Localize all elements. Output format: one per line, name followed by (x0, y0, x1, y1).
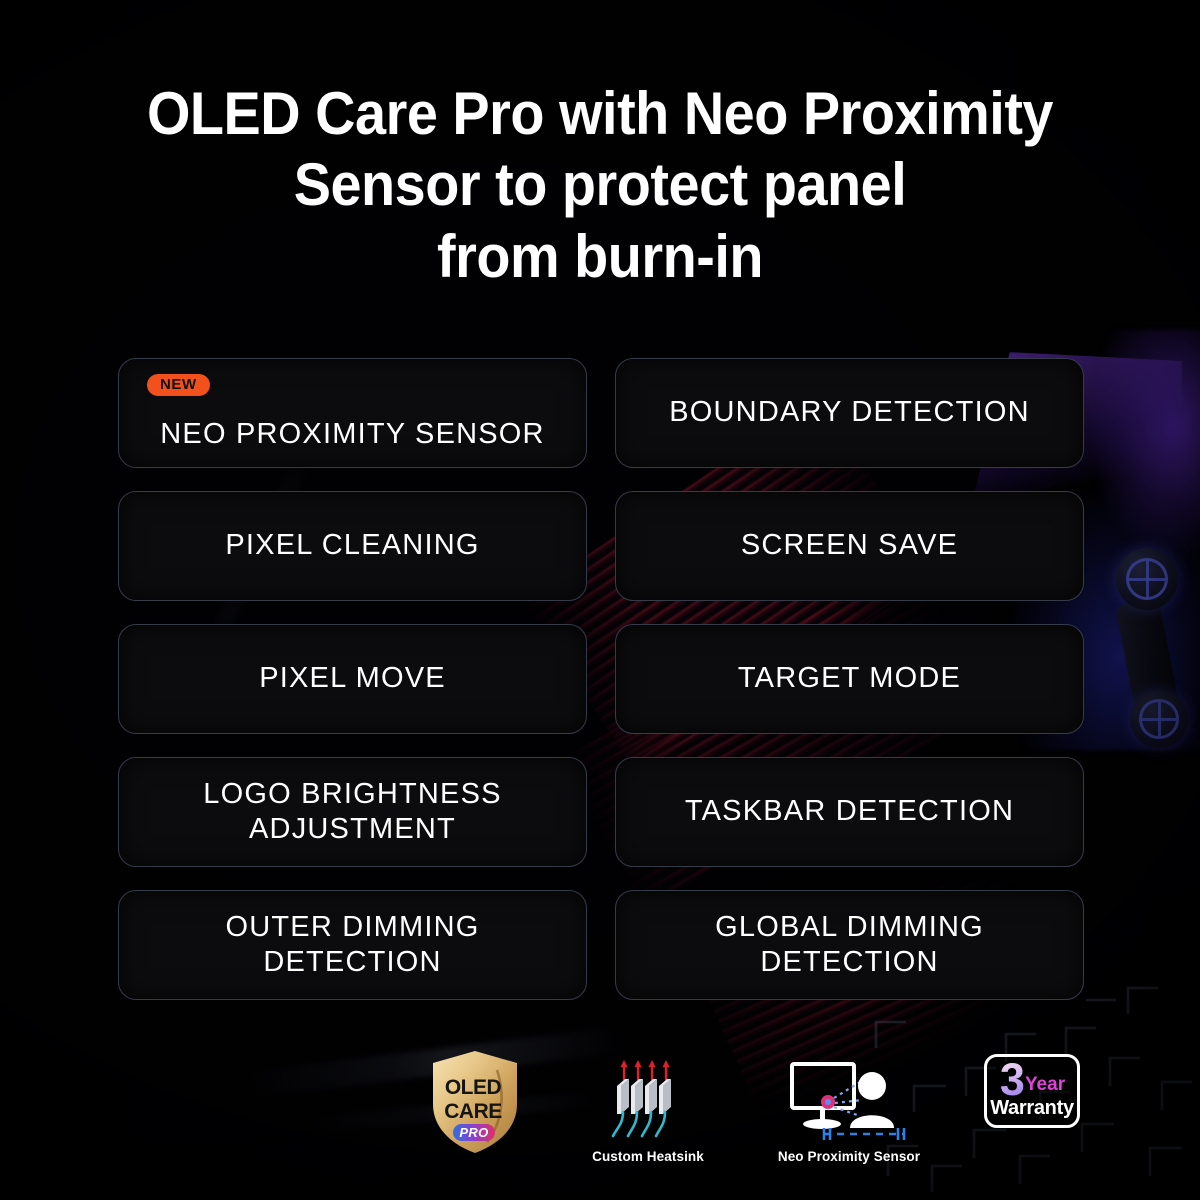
feature-card[interactable]: OUTER DIMMING DETECTION (118, 890, 587, 1000)
feature-card[interactable]: LOGO BRIGHTNESS ADJUSTMENT (118, 757, 587, 867)
heatsink-label: Custom Heatsink (583, 1149, 713, 1164)
feature-card-label: PIXEL CLEANING (213, 528, 491, 563)
feature-card-label: TASKBAR DETECTION (673, 794, 1026, 829)
feature-card[interactable]: TASKBAR DETECTION (615, 757, 1084, 867)
page-title: OLED Care Pro with Neo Proximity Sensor … (42, 78, 1158, 292)
svg-text:CARE: CARE (444, 1100, 502, 1123)
feature-card[interactable]: NEWNEO PROXIMITY SENSOR (118, 358, 587, 468)
feature-card[interactable]: GLOBAL DIMMING DETECTION (615, 890, 1084, 1000)
feature-card-label: SCREEN SAVE (729, 528, 970, 563)
feature-card-label: LOGO BRIGHTNESS ADJUSTMENT (191, 777, 513, 848)
oled-care-pro-badge: OLED CARE PRO (421, 1050, 529, 1154)
feature-card-label: OUTER DIMMING DETECTION (213, 910, 491, 981)
warranty-badge-icon: 3 Year Warranty (984, 1054, 1080, 1128)
promo-graphic: OLED Care Pro with Neo Proximity Sensor … (0, 0, 1200, 1200)
feature-card[interactable]: TARGET MODE (615, 624, 1084, 734)
warranty-badge: 3 Year Warranty (978, 1054, 1086, 1128)
feature-card-label: BOUNDARY DETECTION (657, 395, 1042, 430)
svg-text:PRO: PRO (459, 1125, 488, 1140)
neo-proximity-sensor-badge: Neo Proximity Sensor (766, 1058, 932, 1164)
proximity-label: Neo Proximity Sensor (766, 1149, 932, 1164)
warranty-word: Warranty (987, 1097, 1077, 1120)
warranty-unit: Year (1025, 1075, 1065, 1094)
footer-badge-row: OLED CARE PRO (0, 1042, 1200, 1172)
feature-card[interactable]: PIXEL MOVE (118, 624, 587, 734)
feature-card[interactable]: BOUNDARY DETECTION (615, 358, 1084, 468)
custom-heatsink-badge: Custom Heatsink (583, 1058, 713, 1164)
feature-card[interactable]: PIXEL CLEANING (118, 491, 587, 601)
feature-card-label: PIXEL MOVE (247, 661, 458, 696)
feature-card[interactable]: SCREEN SAVE (615, 491, 1084, 601)
feature-card-label: GLOBAL DIMMING DETECTION (703, 910, 996, 981)
feature-grid: NEWNEO PROXIMITY SENSORBOUNDARY DETECTIO… (118, 358, 1084, 1000)
oled-care-pro-shield-icon: OLED CARE PRO (429, 1050, 521, 1154)
warranty-number: 3 (1000, 1059, 1024, 1101)
feature-card-label: NEO PROXIMITY SENSOR (148, 417, 556, 452)
svg-text:OLED: OLED (445, 1076, 502, 1099)
neo-proximity-sensor-icon (784, 1058, 914, 1144)
feature-card-label: TARGET MODE (726, 661, 973, 696)
new-badge: NEW (147, 374, 210, 396)
custom-heatsink-icon (605, 1058, 691, 1144)
